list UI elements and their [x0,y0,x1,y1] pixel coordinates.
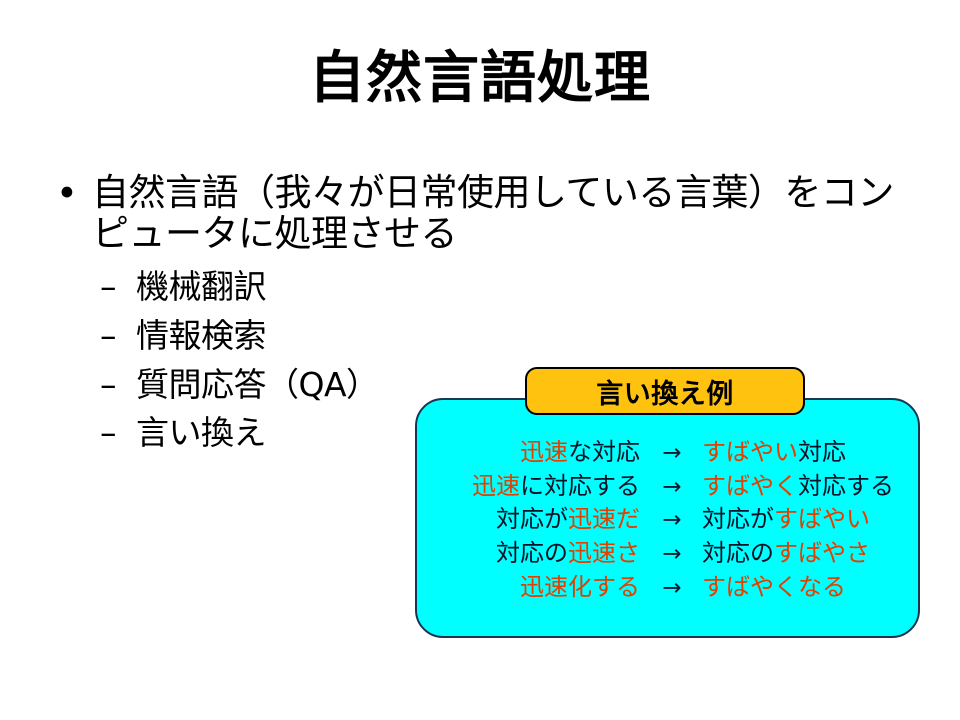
source-plain: な対応 [568,438,640,466]
paraphrase-table: 迅速な対応 → すばやい対応 迅速に対応する → すばやく対応する 対応が迅速だ… [415,437,920,603]
source-highlight: 迅速だ [568,505,640,533]
paraphrase-target: すばやく対応する [700,471,920,503]
list-item: • 自然言語（我々が日常使用している言葉）をコンピュータに処理させる [44,172,924,255]
arrow-icon: → [644,539,700,569]
source-highlight: 迅速 [520,438,568,466]
source-highlight: 迅速 [472,472,520,500]
list-item: – 情報検索 [100,312,924,361]
target-plain: 対応の [702,539,774,567]
source-plain: 対応の [496,539,568,567]
arrow-icon: → [644,573,700,603]
bullet-text: 自然言語（我々が日常使用している言葉）をコンピュータに処理させる [92,172,924,255]
sub-bullet-label-machine-translation: 機械翻訳 [136,267,266,306]
target-plain: 対応 [798,438,846,466]
paraphrase-target: すばやくなる [700,572,920,604]
bullet-marker-icon: • [56,173,77,214]
paraphrase-target: 対応のすばやさ [700,538,920,570]
paraphrase-source: 対応が迅速だ [415,504,644,536]
table-row: 対応が迅速だ → 対応がすばやい [415,504,920,536]
panel-badge-label: 言い換え例 [525,367,805,415]
arrow-icon: → [644,438,700,468]
target-highlight: すばやくなる [702,573,846,601]
paraphrase-source: 迅速に対応する [415,471,644,503]
source-highlight: 迅速化する [520,573,640,601]
dash-marker-icon: – [100,263,116,312]
target-highlight: すばやく [702,472,798,500]
paraphrase-source: 迅速化する [415,572,644,604]
source-plain: に対応する [520,472,640,500]
source-plain: 対応が [496,505,568,533]
target-highlight: すばやさ [774,539,870,567]
dash-marker-icon: – [100,312,116,361]
dash-marker-icon: – [100,409,116,458]
slide-canvas: 自然言語処理 • 自然言語（我々が日常使用している言葉）をコンピュータに処理させ… [0,0,960,720]
sub-bullet-label-paraphrase: 言い換え [136,413,266,452]
target-plain: 対応が [702,505,774,533]
paraphrase-source: 対応の迅速さ [415,538,644,570]
page-title: 自然言語処理 [0,48,960,110]
target-highlight: すばやい [702,438,798,466]
source-highlight: 迅速さ [568,539,640,567]
paraphrase-target: すばやい対応 [700,437,920,469]
list-item: – 機械翻訳 [100,263,924,312]
paraphrase-target: 対応がすばやい [700,504,920,536]
table-row: 迅速に対応する → すばやく対応する [415,471,920,503]
target-plain: 対応する [798,472,894,500]
arrow-icon: → [644,472,700,502]
sub-bullet-label-question-answering: 質問応答（QA） [136,365,379,404]
dash-marker-icon: – [100,361,116,410]
table-row: 迅速な対応 → すばやい対応 [415,437,920,469]
table-row: 対応の迅速さ → 対応のすばやさ [415,538,920,570]
table-row: 迅速化する → すばやくなる [415,572,920,604]
arrow-icon: → [644,505,700,535]
sub-bullet-label-information-retrieval: 情報検索 [136,316,266,355]
paraphrase-source: 迅速な対応 [415,437,644,469]
target-highlight: すばやい [774,505,870,533]
